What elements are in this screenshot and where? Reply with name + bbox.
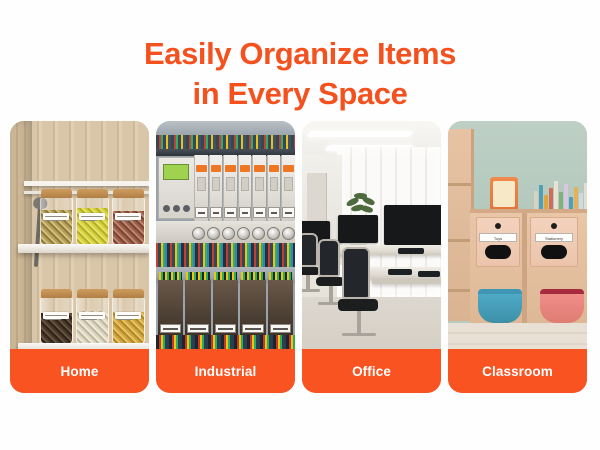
classroom-drawer-stationery[interactable]: Stationery xyxy=(530,217,578,267)
drawer-label-toys: Toys xyxy=(479,233,517,242)
category-card-home[interactable]: Home xyxy=(10,121,149,393)
category-card-classroom[interactable]: Toys Stationery Classroom xyxy=(448,121,587,393)
drawer-handle-icon xyxy=(485,245,511,259)
category-card-office[interactable]: Office xyxy=(302,121,441,393)
classroom-books xyxy=(534,179,587,211)
category-card-industrial[interactable]: Industrial xyxy=(156,121,295,393)
drawer-knob-icon xyxy=(551,223,557,229)
classroom-picture-frame xyxy=(490,177,518,211)
category-card-row: Home xyxy=(0,113,600,393)
card-label-home: Home xyxy=(10,349,149,393)
drawer-knob-icon xyxy=(495,223,501,229)
promo-banner: Easily Organize Items in Every Space xyxy=(0,0,600,450)
drawer-label-stationery: Stationery xyxy=(535,233,573,242)
card-label-office: Office xyxy=(302,349,441,393)
page-title: Easily Organize Items in Every Space xyxy=(0,0,600,113)
classroom-drawer-toys[interactable]: Toys xyxy=(476,217,520,267)
card-label-industrial: Industrial xyxy=(156,349,295,393)
card-label-classroom: Classroom xyxy=(448,349,587,393)
classroom-bin-blue xyxy=(478,289,522,323)
drawer-handle-icon xyxy=(541,245,567,259)
page-title-line-1: Easily Organize Items xyxy=(0,34,600,74)
classroom-bin-pink xyxy=(540,289,584,323)
page-title-line-2: in Every Space xyxy=(0,74,600,114)
